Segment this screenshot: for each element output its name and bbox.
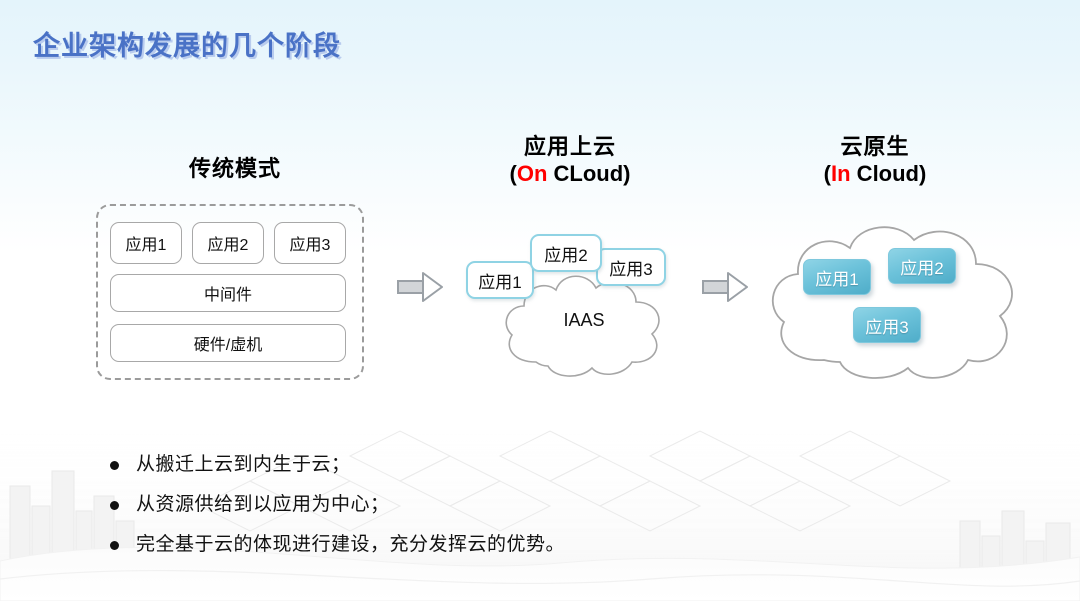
heading-rest: Cloud bbox=[851, 161, 919, 186]
heading-rest: CLoud bbox=[547, 161, 623, 186]
bullet-dot-icon bbox=[110, 501, 119, 510]
cloud-native-app-2[interactable]: 应用2 bbox=[888, 248, 956, 284]
bullet-dot-icon bbox=[110, 461, 119, 470]
paren-open: ( bbox=[510, 161, 517, 186]
cloud-native-app-3[interactable]: 应用3 bbox=[853, 307, 921, 343]
section-heading-on-cloud-line1: 应用上云 bbox=[450, 133, 690, 160]
traditional-app-2[interactable]: 应用2 bbox=[192, 222, 264, 264]
traditional-hardware-box[interactable]: 硬件/虚机 bbox=[110, 324, 346, 362]
section-heading-on-cloud-line2: (On CLoud) bbox=[450, 160, 690, 188]
accent-word-in: In bbox=[831, 161, 851, 186]
page-title: 企业架构发展的几个阶段 bbox=[33, 24, 341, 63]
section-heading-on-cloud: 应用上云 (On CLoud) bbox=[450, 133, 690, 188]
section-heading-cloud-native: 云原生 (In Cloud) bbox=[755, 133, 995, 188]
traditional-app-3[interactable]: 应用3 bbox=[274, 222, 346, 264]
on-cloud-app-1[interactable]: 应用1 bbox=[466, 261, 534, 299]
section-heading-traditional: 传统模式 bbox=[115, 155, 355, 182]
list-item: 从资源供给到以应用为中心； bbox=[110, 492, 810, 518]
bullet-dot-icon bbox=[110, 541, 119, 550]
paren-close: ) bbox=[919, 161, 926, 186]
list-item: 完全基于云的体现进行建设，充分发挥云的优势。 bbox=[110, 532, 810, 558]
cloud-native-cloud-shape bbox=[762, 218, 1026, 384]
bullet-text-1: 从搬迁上云到内生于云； bbox=[136, 452, 351, 478]
bullet-text-2: 从资源供给到以应用为中心； bbox=[136, 492, 390, 518]
section-heading-cloud-native-line1: 云原生 bbox=[755, 133, 995, 160]
paren-open: ( bbox=[824, 161, 831, 186]
iaas-cloud-label: IAAS bbox=[496, 310, 672, 331]
traditional-middleware-box[interactable]: 中间件 bbox=[110, 274, 346, 312]
bullet-text-3: 完全基于云的体现进行建设，充分发挥云的优势。 bbox=[136, 532, 565, 558]
slide-canvas: 企业架构发展的几个阶段 传统模式 应用1 应用2 应用3 中间件 硬件/虚机 应… bbox=[0, 0, 1080, 601]
accent-word-on: On bbox=[517, 161, 548, 186]
on-cloud-app-2[interactable]: 应用2 bbox=[530, 234, 602, 272]
list-item: 从搬迁上云到内生于云； bbox=[110, 452, 810, 478]
traditional-app-1[interactable]: 应用1 bbox=[110, 222, 182, 264]
right-arrow-icon bbox=[702, 272, 748, 302]
section-heading-cloud-native-line2: (In Cloud) bbox=[755, 160, 995, 188]
bullet-list: 从搬迁上云到内生于云； 从资源供给到以应用为中心； 完全基于云的体现进行建设，充… bbox=[110, 452, 810, 572]
paren-close: ) bbox=[623, 161, 630, 186]
on-cloud-app-3[interactable]: 应用3 bbox=[596, 248, 666, 286]
section-heading-traditional-line1: 传统模式 bbox=[115, 155, 355, 182]
cloud-native-app-1[interactable]: 应用1 bbox=[803, 259, 871, 295]
traditional-app-row: 应用1 应用2 应用3 bbox=[110, 222, 346, 264]
right-arrow-icon bbox=[397, 272, 443, 302]
